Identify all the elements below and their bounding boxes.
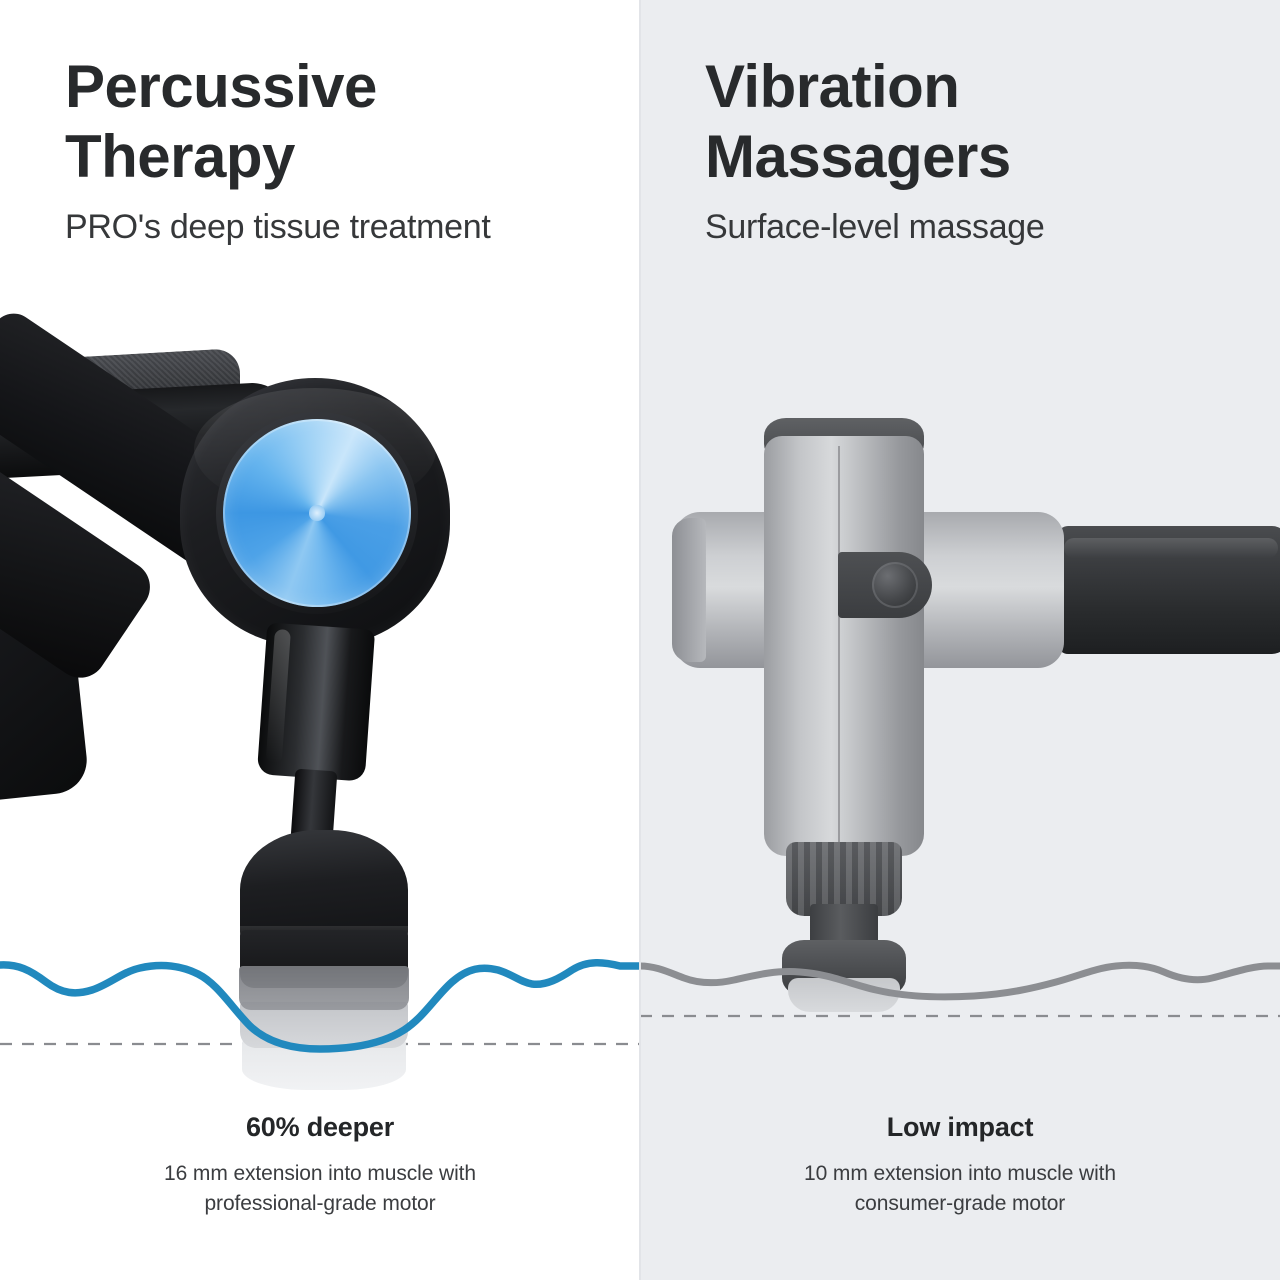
page-title-left: Percussive Therapy [65,52,490,191]
theragun-blue-dial[interactable] [223,419,411,607]
massager-power-button[interactable] [872,562,918,608]
panel-right-header: Vibration Massagers Surface-level massag… [705,52,1045,248]
massager-vertical-body [764,436,924,856]
theragun-arm-neck [257,622,375,781]
massager-seam-line [838,446,840,846]
vibration-wave-line [640,900,1280,1090]
panel-left-header: Percussive Therapy PRO's deep tissue tre… [65,52,490,248]
caption-title-left: 60% deeper [0,1112,640,1143]
page-title-right: Vibration Massagers [705,52,1045,191]
caption-title-right: Low impact [640,1112,1280,1143]
panel-divider [639,0,641,1280]
panel-vibration-massagers: Vibration Massagers Surface-level massag… [640,0,1280,1280]
massager-handle [1058,526,1280,654]
caption-desc-left: 16 mm extension into muscle with profess… [0,1159,640,1220]
caption-desc-right: 10 mm extension into muscle with consume… [640,1159,1280,1220]
massager-left-cap [672,518,706,662]
page-subtitle-left: PRO's deep tissue treatment [65,207,490,248]
page-subtitle-right: Surface-level massage [705,207,1045,248]
percussive-wave-line [0,900,640,1090]
caption-right: Low impact 10 mm extension into muscle w… [640,1112,1280,1220]
caption-left: 60% deeper 16 mm extension into muscle w… [0,1112,640,1220]
product-comparison: Percussive Therapy PRO's deep tissue tre… [0,0,1280,1280]
panel-percussive-therapy: Percussive Therapy PRO's deep tissue tre… [0,0,640,1280]
